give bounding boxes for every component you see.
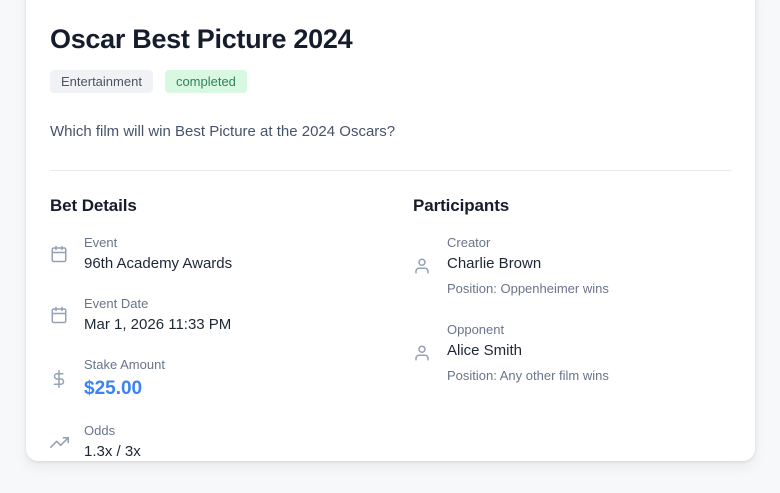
detail-row-body: Odds 1.3x / 3x [84, 422, 405, 462]
detail-row: Event Date Mar 1, 2026 11:33 PM [50, 295, 405, 335]
detail-row: Event 96th Academy Awards [50, 234, 405, 274]
detail-label: Odds [84, 422, 405, 440]
bet-question: Which film will win Best Picture at the … [50, 121, 731, 143]
participants-heading: Participants [413, 196, 731, 216]
card-inner: Oscar Best Picture 2024 Entertainment co… [50, 0, 731, 462]
badge-row: Entertainment completed [50, 70, 731, 93]
status-badge: completed [165, 70, 247, 93]
participant-name: Charlie Brown [447, 253, 731, 274]
bet-details-heading: Bet Details [50, 196, 405, 216]
calendar-icon [50, 306, 84, 324]
odds-value: 1.3x / 3x [84, 441, 405, 462]
person-icon [413, 344, 447, 362]
detail-label: Event Date [84, 295, 405, 313]
trending-up-icon [50, 433, 84, 452]
stake-amount-value: $25.00 [84, 376, 405, 401]
category-badge: Entertainment [50, 70, 153, 93]
detail-value: Mar 1, 2026 11:33 PM [84, 314, 405, 335]
participant-role: Opponent [447, 321, 731, 339]
dollar-icon [50, 370, 84, 388]
detail-row: Stake Amount $25.00 [50, 356, 405, 401]
person-icon [413, 257, 447, 275]
participants-column: Participants Creator Charlie Brown Posit… [405, 196, 731, 462]
participant-position: Position: Oppenheimer wins [447, 279, 731, 298]
participant-position: Position: Any other film wins [447, 366, 731, 385]
detail-label: Stake Amount [84, 356, 405, 374]
participant-body: Creator Charlie Brown Position: Oppenhei… [447, 234, 731, 298]
content-columns: Bet Details Event 96th [50, 196, 731, 462]
participant-row-creator: Creator Charlie Brown Position: Oppenhei… [413, 234, 731, 298]
detail-value: 96th Academy Awards [84, 253, 405, 274]
detail-label: Event [84, 234, 405, 252]
calendar-icon [50, 245, 84, 263]
detail-row-body: Event 96th Academy Awards [84, 234, 405, 274]
detail-row-body: Event Date Mar 1, 2026 11:33 PM [84, 295, 405, 335]
participant-row-opponent: Opponent Alice Smith Position: Any other… [413, 321, 731, 385]
page-title: Oscar Best Picture 2024 [50, 22, 731, 56]
detail-row: Odds 1.3x / 3x [50, 422, 405, 462]
detail-row-body: Stake Amount $25.00 [84, 356, 405, 401]
bet-details-column: Bet Details Event 96th [50, 196, 405, 462]
page-root: Oscar Best Picture 2024 Entertainment co… [0, 0, 780, 493]
section-divider [50, 170, 731, 171]
participant-body: Opponent Alice Smith Position: Any other… [447, 321, 731, 385]
participant-role: Creator [447, 234, 731, 252]
participant-name: Alice Smith [447, 340, 731, 361]
bet-detail-card: Oscar Best Picture 2024 Entertainment co… [26, 0, 755, 461]
